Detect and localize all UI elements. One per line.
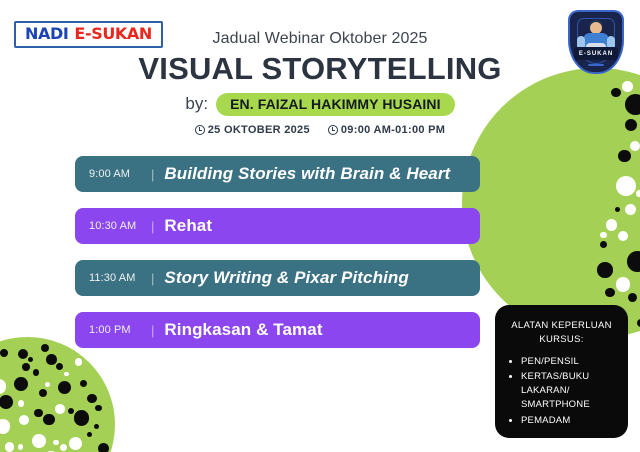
schedule-row-divider: |	[151, 167, 154, 182]
esukan-shield-badge-icon: E-SUKAN	[565, 8, 627, 80]
decorative-dot	[34, 409, 43, 418]
event-time-label: 09:00 AM-01:00 PM	[341, 124, 445, 136]
decorative-dot	[22, 363, 29, 370]
decorative-dot	[18, 444, 23, 449]
schedule-row-time: 10:30 AM	[89, 220, 151, 232]
decorative-dot	[605, 288, 614, 297]
decorative-dot	[19, 415, 29, 425]
decorative-dot	[46, 354, 56, 364]
schedule-row-divider: |	[151, 271, 154, 286]
decorative-dot	[39, 389, 47, 397]
event-time: 09:00 AM-01:00 PM	[328, 124, 445, 136]
badge-ribbon: E-SUKAN	[574, 47, 618, 60]
equipment-item: PEN/PENSIL	[521, 355, 616, 369]
decorative-dot	[0, 379, 6, 394]
decorative-dot	[618, 231, 628, 241]
decorative-dot	[597, 262, 612, 277]
schedule-row[interactable]: 1:00 PM|Ringkasan & Tamat	[75, 312, 480, 348]
by-label: by:	[185, 94, 208, 114]
decorative-dot	[74, 410, 90, 426]
webinar-poster: NADI E-SUKAN E-SUKAN Jadual Webinar Okto…	[0, 0, 640, 452]
event-meta-row: 25 OKTOBER 2025 09:00 AM-01:00 PM	[120, 124, 520, 136]
schedule-row-time: 11:30 AM	[89, 272, 151, 284]
decorative-dot	[43, 414, 55, 426]
decorative-dot	[618, 150, 631, 163]
speaker-name-badge: EN. FAIZAL HAKIMMY HUSAINI	[216, 93, 455, 116]
schedule-row[interactable]: 9:00 AM|Building Stories with Brain & He…	[75, 156, 480, 192]
equipment-item: KERTAS/BUKU LAKARAN/ SMARTPHONE	[521, 370, 616, 413]
decorative-dot	[58, 381, 71, 394]
decorative-dot	[0, 419, 10, 434]
schedule-row[interactable]: 11:30 AM|Story Writing & Pixar Pitching	[75, 260, 480, 296]
decorative-dot	[41, 344, 49, 352]
decorative-dot	[627, 251, 640, 271]
equipment-item: PEMADAM	[521, 414, 616, 428]
decorative-dot	[636, 190, 640, 196]
decorative-dot	[616, 176, 636, 196]
decorative-dot	[5, 442, 14, 451]
page-title: VISUAL STORYTELLING	[120, 53, 520, 86]
decorative-dot	[606, 219, 617, 230]
decorative-dot	[68, 408, 74, 414]
decorative-dot	[56, 363, 63, 370]
decorative-dot	[87, 394, 96, 403]
decorative-dot	[615, 207, 620, 212]
schedule-row[interactable]: 10:30 AM|Rehat	[75, 208, 480, 244]
schedule-row-title: Building Stories with Brain & Heart	[164, 164, 450, 184]
equipment-item-list: PEN/PENSILKERTAS/BUKU LAKARAN/ SMARTPHON…	[507, 355, 616, 428]
badge-underline	[588, 64, 604, 66]
decorative-dot	[600, 241, 607, 248]
decorative-dot	[628, 293, 637, 302]
decorative-dot	[14, 377, 28, 391]
decorative-dot	[0, 349, 8, 357]
event-date-label: 25 OKTOBER 2025	[208, 124, 310, 136]
schedule-row-divider: |	[151, 323, 154, 338]
badge-ribbon-label: E-SUKAN	[579, 51, 613, 57]
decorative-dot	[28, 357, 33, 362]
decorative-dot	[55, 404, 65, 414]
decorative-dot	[622, 81, 633, 92]
decorative-dot	[64, 372, 69, 377]
clock-icon	[328, 125, 338, 135]
decorative-dot	[0, 395, 13, 409]
decorative-dot	[600, 232, 607, 239]
decorative-dot	[32, 434, 46, 448]
decorative-dot	[33, 369, 40, 376]
equipment-title: ALATAN KEPERLUAN KURSUS:	[507, 319, 616, 347]
poster-header: Jadual Webinar Oktober 2025 VISUAL STORY…	[120, 30, 520, 136]
event-date: 25 OKTOBER 2025	[195, 124, 310, 136]
decorative-dot	[45, 382, 50, 387]
decorative-dot	[95, 405, 102, 412]
webinar-subtitle: Jadual Webinar Oktober 2025	[120, 30, 520, 48]
decorative-dot	[87, 432, 92, 437]
schedule-row-time: 1:00 PM	[89, 324, 151, 336]
speaker-row: by: EN. FAIZAL HAKIMMY HUSAINI	[120, 93, 520, 116]
decorative-dot	[53, 440, 58, 445]
decorative-dot	[625, 94, 640, 115]
decorative-dot	[611, 88, 621, 98]
schedule-row-title: Ringkasan & Tamat	[164, 320, 322, 340]
schedule-row-time: 9:00 AM	[89, 168, 151, 180]
clock-icon	[195, 125, 205, 135]
schedule-list: 9:00 AM|Building Stories with Brain & He…	[75, 156, 480, 364]
decorative-dot	[80, 380, 87, 387]
decorative-dot	[18, 400, 25, 407]
decorative-dot	[69, 437, 82, 450]
shield-body: E-SUKAN	[568, 10, 624, 74]
schedule-row-title: Story Writing & Pixar Pitching	[164, 268, 409, 288]
equipment-box: ALATAN KEPERLUAN KURSUS: PEN/PENSILKERTA…	[495, 305, 628, 438]
decorative-dot	[98, 443, 109, 452]
schedule-row-title: Rehat	[164, 216, 212, 236]
decorative-dot	[625, 119, 637, 131]
schedule-row-divider: |	[151, 219, 154, 234]
decorative-dot	[630, 141, 640, 151]
decorative-dot	[616, 277, 630, 291]
decorative-dot	[60, 444, 67, 451]
decorative-dot	[18, 349, 28, 359]
logo-text-nadi: NADI	[25, 26, 68, 42]
decorative-dot	[625, 204, 637, 216]
decorative-dot	[94, 424, 99, 429]
